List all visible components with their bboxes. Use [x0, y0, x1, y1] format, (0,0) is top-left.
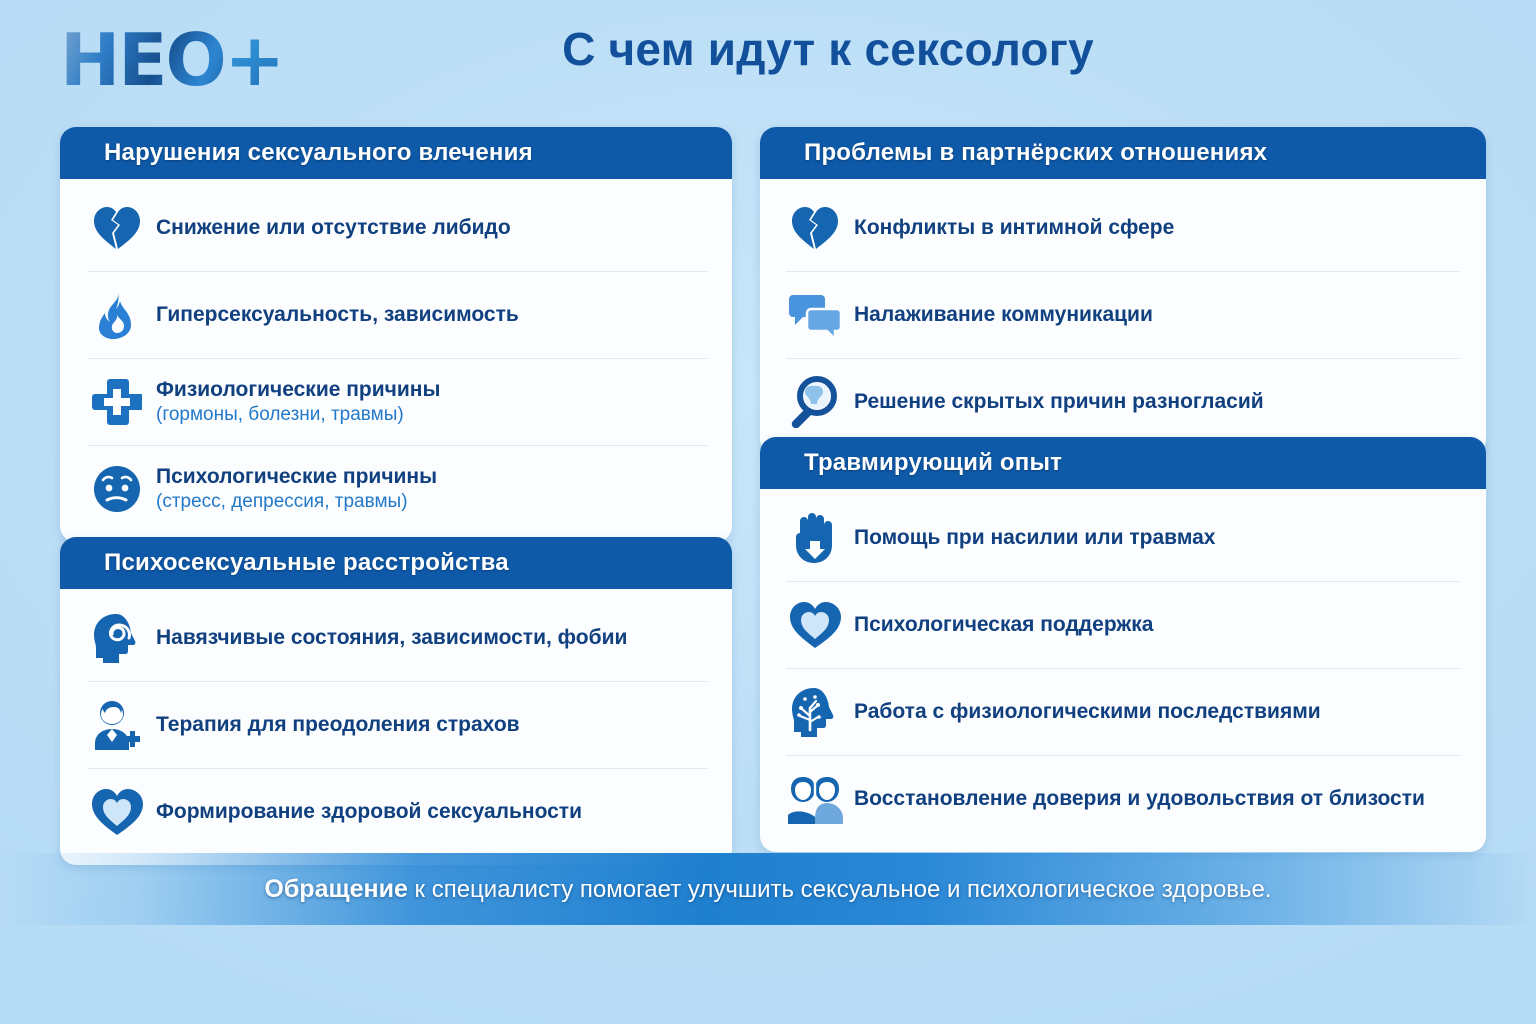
list-item[interactable]: Терапия для преодоления страхов: [88, 681, 708, 768]
list-item-label: Навязчивые состояния, зависимости, фобии: [156, 626, 627, 650]
flame-icon: [88, 286, 146, 344]
footer-rest: к специалисту помогает улучшить сексуаль…: [408, 876, 1272, 903]
card-partner-relationships: Проблемы в партнёрских отношениях Конфли…: [760, 127, 1486, 455]
medical-cross-icon: [88, 373, 146, 431]
list-item-label: Психологическая поддержка: [854, 613, 1153, 637]
list-item[interactable]: Восстановление доверия и удовольствия от…: [786, 755, 1460, 842]
card-partner-items: Конфликты в интимной сфере Налаживание к…: [760, 179, 1486, 455]
list-item-label: Гиперсексуальность, зависимость: [156, 303, 519, 327]
list-item-subtext: (стресс, депрессия, травмы): [156, 491, 437, 513]
list-item-text: Снижение или отсутствие либидо: [156, 216, 511, 240]
list-item[interactable]: Физиологические причины (гормоны, болезн…: [88, 358, 708, 445]
list-item-text: Решение скрытых причин разногласий: [854, 390, 1264, 414]
list-item-text: Конфликты в интимной сфере: [854, 216, 1174, 240]
magnifier-icon: [786, 373, 844, 431]
list-item[interactable]: Психологическая поддержка: [786, 581, 1460, 668]
list-item-text: Физиологические причины (гормоны, болезн…: [156, 378, 440, 426]
card-psychosex-items: Навязчивые состояния, зависимости, фобии…: [60, 589, 732, 865]
list-item-text: Терапия для преодоления страхов: [156, 713, 520, 737]
list-item-label: Решение скрытых причин разногласий: [854, 390, 1264, 414]
broken-heart-icon: [88, 199, 146, 257]
list-item[interactable]: Формирование здоровой сексуальности: [88, 768, 708, 855]
list-item[interactable]: Решение скрытых причин разногласий: [786, 358, 1460, 445]
heart-inner-icon: [88, 783, 146, 841]
card-desire-items: Снижение или отсутствие либидо Гиперсекс…: [60, 179, 732, 542]
list-item[interactable]: Налаживание коммуникации: [786, 271, 1460, 358]
list-item[interactable]: Навязчивые состояния, зависимости, фобии: [88, 595, 708, 681]
stop-hand-icon: [786, 509, 844, 567]
heart-inner-icon: [786, 596, 844, 654]
card-partner-title: Проблемы в партнёрских отношениях: [760, 127, 1486, 179]
speech-bubbles-icon: [786, 286, 844, 344]
head-tree-icon: [786, 683, 844, 741]
list-item[interactable]: Конфликты в интимной сфере: [786, 185, 1460, 271]
list-item-text: Психологические причины (стресс, депресс…: [156, 465, 437, 513]
list-item-label: Терапия для преодоления страхов: [156, 713, 520, 737]
list-item-label: Конфликты в интимной сфере: [854, 216, 1174, 240]
couple-icon: [786, 770, 844, 828]
list-item-text: Помощь при насилии или травмах: [854, 526, 1215, 550]
footer-text: Обращение к специалисту помогает улучшит…: [264, 875, 1271, 904]
list-item-text: Работа с физиологическими последствиями: [854, 700, 1321, 724]
broken-heart-icon: [786, 199, 844, 257]
card-psychosex-title: Психосексуальные расстройства: [60, 537, 732, 589]
list-item-text: Формирование здоровой сексуальности: [156, 800, 582, 824]
card-desire: Нарушения сексуального влечения Снижение…: [60, 127, 732, 542]
footer-banner: Обращение к специалисту помогает улучшит…: [0, 853, 1536, 925]
list-item-label: Снижение или отсутствие либидо: [156, 216, 511, 240]
list-item-label: Физиологические причины: [156, 378, 440, 402]
sad-face-icon: [88, 460, 146, 518]
list-item-text: Психологическая поддержка: [854, 613, 1153, 637]
footer-lead: Обращение: [264, 875, 407, 903]
card-traumatic-experience: Травмирующий опыт Помощь при насилии или…: [760, 437, 1486, 852]
list-item-label: Психологические причины: [156, 465, 437, 489]
list-item-text: Налаживание коммуникации: [854, 303, 1153, 327]
list-item[interactable]: Психологические причины (стресс, депресс…: [88, 445, 708, 532]
card-trauma-title: Травмирующий опыт: [760, 437, 1486, 489]
list-item[interactable]: Помощь при насилии или травмах: [786, 495, 1460, 581]
list-item[interactable]: Снижение или отсутствие либидо: [88, 185, 708, 271]
card-psychosexual-disorders: Психосексуальные расстройства Навязчивые…: [60, 537, 732, 865]
list-item-text: Навязчивые состояния, зависимости, фобии: [156, 626, 627, 650]
page-title: С чем идут к сексологу: [0, 22, 1536, 76]
poster-header: НЕО+ С чем идут к сексологу: [0, 0, 1536, 110]
list-item-text: Гиперсексуальность, зависимость: [156, 303, 519, 327]
list-item-label: Формирование здоровой сексуальности: [156, 800, 582, 824]
list-item-label: Помощь при насилии или травмах: [854, 526, 1215, 550]
head-spiral-icon: [88, 609, 146, 667]
list-item-subtext: (гормоны, болезни, травмы): [156, 404, 440, 426]
list-item[interactable]: Работа с физиологическими последствиями: [786, 668, 1460, 755]
list-item[interactable]: Гиперсексуальность, зависимость: [88, 271, 708, 358]
list-item-text: Восстановление доверия и удовольствия от…: [854, 787, 1425, 811]
card-trauma-items: Помощь при насилии или травмах Психологи…: [760, 489, 1486, 852]
infographic-poster: НЕО+ С чем идут к сексологу Нарушения се…: [0, 0, 1536, 1024]
list-item-label: Налаживание коммуникации: [854, 303, 1153, 327]
list-item-label: Восстановление доверия и удовольствия от…: [854, 787, 1425, 811]
list-item-label: Работа с физиологическими последствиями: [854, 700, 1321, 724]
person-plus-icon: [88, 696, 146, 754]
card-desire-title: Нарушения сексуального влечения: [60, 127, 732, 179]
